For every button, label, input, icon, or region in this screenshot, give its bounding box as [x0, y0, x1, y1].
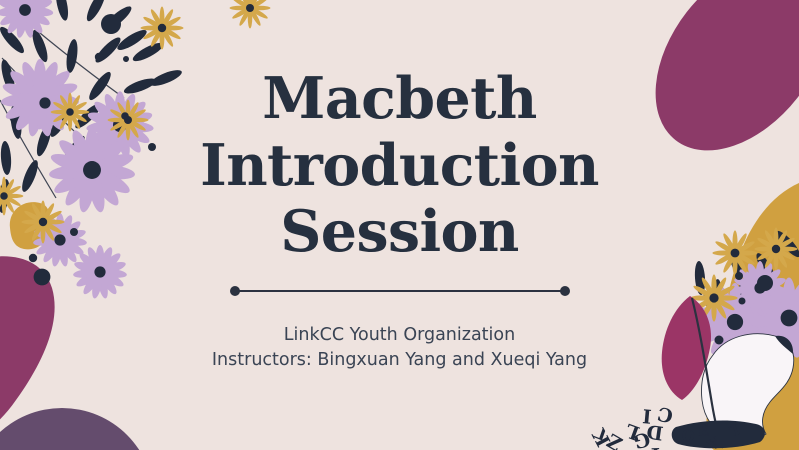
divider-line: [235, 290, 565, 292]
title-line-2: Introduction: [200, 132, 599, 199]
title-divider: [230, 286, 570, 296]
presentation-slide: K Z L I G F D C O E A L Macbeth Introduc…: [0, 0, 799, 450]
divider-dot-right: [560, 286, 570, 296]
title-line-1: Macbeth: [262, 65, 536, 132]
slide-content: Macbeth Introduction Session LinkCC Yout…: [0, 0, 799, 450]
organization-label: LinkCC Youth Organization: [212, 323, 587, 348]
instructors-label: Instructors: Bingxuan Yang and Xueqi Yan…: [212, 348, 587, 373]
title-line-3: Session: [280, 198, 519, 265]
subtitle: LinkCC Youth Organization Instructors: B…: [212, 296, 587, 373]
page-title: Macbeth Introduction Session: [140, 0, 660, 266]
